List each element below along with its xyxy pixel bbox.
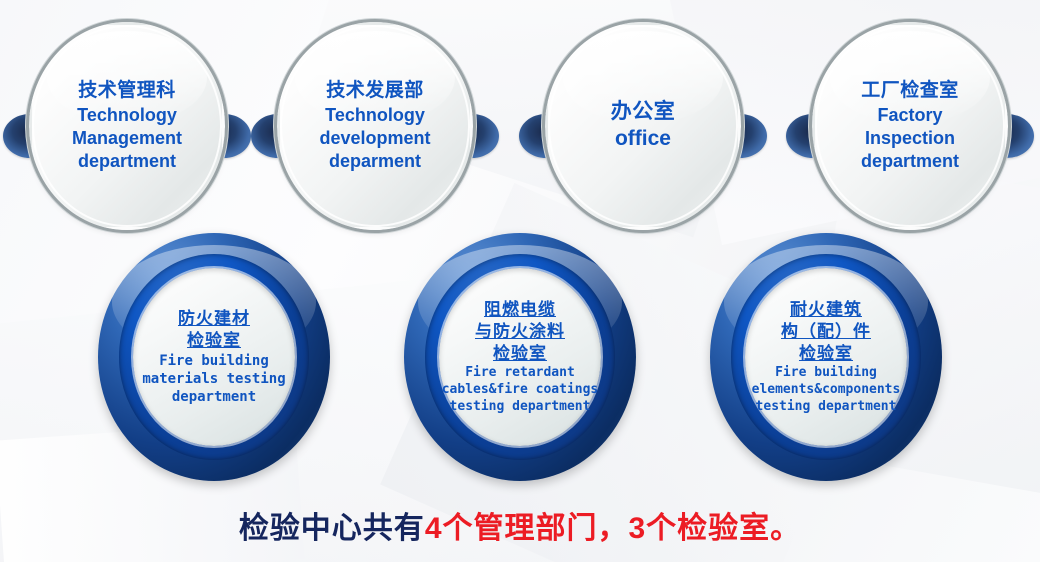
mgmt-label-en-1: Factory — [861, 104, 959, 127]
mgmt-label-en-2: development — [319, 127, 430, 150]
lab-label-en-2: materials testing — [133, 370, 295, 388]
lab-label-en-2: elements&components — [745, 382, 907, 399]
lab-label-cn-2: 构（配）件 — [745, 321, 907, 343]
lab-inner-disc[interactable]: 防火建材 检验室 Fire building materials testing… — [133, 268, 295, 447]
lab-label-cn-2: 与防火涂料 — [439, 321, 601, 343]
lab-label-group: 防火建材 检验室 Fire building materials testing… — [133, 308, 295, 407]
mgmt-label-en-3: department — [72, 150, 182, 173]
mgmt-label-en-1: Technology — [72, 104, 182, 127]
mgmt-node-factory-inspection[interactable]: 工厂检查室 Factory Inspection department — [812, 22, 1008, 230]
mgmt-bubble[interactable]: 工厂检查室 Factory Inspection department — [812, 22, 1008, 230]
lab-label-en-3: department — [133, 388, 295, 406]
lab-outer-ring: 防火建材 检验室 Fire building materials testing… — [98, 233, 330, 481]
lab-label-en-1: Fire retardant — [439, 365, 601, 382]
mgmt-bubble[interactable]: 办公室 office — [545, 22, 741, 230]
lab-inner-disc[interactable]: 耐火建筑 构（配）件 检验室 Fire building elements&co… — [745, 268, 907, 447]
lab-label-group: 耐火建筑 构（配）件 检验室 Fire building elements&co… — [745, 299, 907, 416]
mgmt-node-technology-management[interactable]: 技术管理科 Technology Management department — [29, 22, 225, 230]
lab-label-en-2: cables&fire coatings — [439, 382, 601, 399]
mgmt-bubble[interactable]: 技术管理科 Technology Management department — [29, 22, 225, 230]
lab-label-cn-1: 耐火建筑 — [745, 299, 907, 321]
mgmt-label-en-2: Inspection — [861, 127, 959, 150]
mgmt-label-en-3: department — [861, 150, 959, 173]
summary-caption: 检验中心共有4个管理部门，3个检验室。 — [0, 503, 1040, 547]
mgmt-label-cn: 办公室 — [611, 99, 676, 126]
lab-label-cn-2: 检验室 — [133, 330, 295, 352]
lab-label-cn-3: 检验室 — [439, 343, 601, 365]
lab-node-fire-building-elements-components[interactable]: 耐火建筑 构（配）件 检验室 Fire building elements&co… — [710, 233, 942, 481]
lab-label-en-3: testing department — [439, 399, 601, 416]
mgmt-label-cn: 技术发展部 — [319, 79, 430, 103]
lab-outer-ring: 耐火建筑 构（配）件 检验室 Fire building elements&co… — [710, 233, 942, 481]
lab-label-en-1: Fire building — [133, 352, 295, 370]
mgmt-label-group: 工厂检查室 Factory Inspection department — [853, 79, 967, 172]
mgmt-label-group: 技术发展部 Technology development deparment — [311, 79, 438, 172]
mgmt-node-office[interactable]: 办公室 office — [545, 22, 741, 230]
lab-label-cn-1: 防火建材 — [133, 308, 295, 330]
lab-label-cn-3: 检验室 — [745, 343, 907, 365]
mgmt-label-cn: 技术管理科 — [72, 79, 182, 103]
lab-label-cn-1: 阻燃电缆 — [439, 299, 601, 321]
mgmt-node-technology-development[interactable]: 技术发展部 Technology development deparment — [277, 22, 473, 230]
lab-node-fire-building-materials[interactable]: 防火建材 检验室 Fire building materials testing… — [98, 233, 330, 481]
caption-dark-prefix: 检验中心共有 — [239, 512, 425, 545]
lab-label-group: 阻燃电缆 与防火涂料 检验室 Fire retardant cables&fir… — [439, 299, 601, 416]
caption-red-suffix: 4个管理部门，3个检验室。 — [425, 512, 801, 545]
lab-label-en-1: Fire building — [745, 365, 907, 382]
mgmt-label-group: 技术管理科 Technology Management department — [64, 79, 190, 172]
mgmt-label-group: 办公室 office — [603, 99, 684, 153]
lab-outer-ring: 阻燃电缆 与防火涂料 检验室 Fire retardant cables&fir… — [404, 233, 636, 481]
mgmt-label-en-1: office — [611, 126, 676, 153]
mgmt-label-en-3: deparment — [319, 150, 430, 173]
mgmt-label-en-1: Technology — [319, 104, 430, 127]
mgmt-label-en-2: Management — [72, 127, 182, 150]
mgmt-label-cn: 工厂检查室 — [861, 79, 959, 103]
lab-label-en-3: testing department — [745, 399, 907, 416]
lab-node-fire-retardant-cables-coatings[interactable]: 阻燃电缆 与防火涂料 检验室 Fire retardant cables&fir… — [404, 233, 636, 481]
mgmt-bubble[interactable]: 技术发展部 Technology development deparment — [277, 22, 473, 230]
lab-inner-disc[interactable]: 阻燃电缆 与防火涂料 检验室 Fire retardant cables&fir… — [439, 268, 601, 447]
organization-chart-slide: 技术管理科 Technology Management department 技… — [0, 0, 1040, 562]
